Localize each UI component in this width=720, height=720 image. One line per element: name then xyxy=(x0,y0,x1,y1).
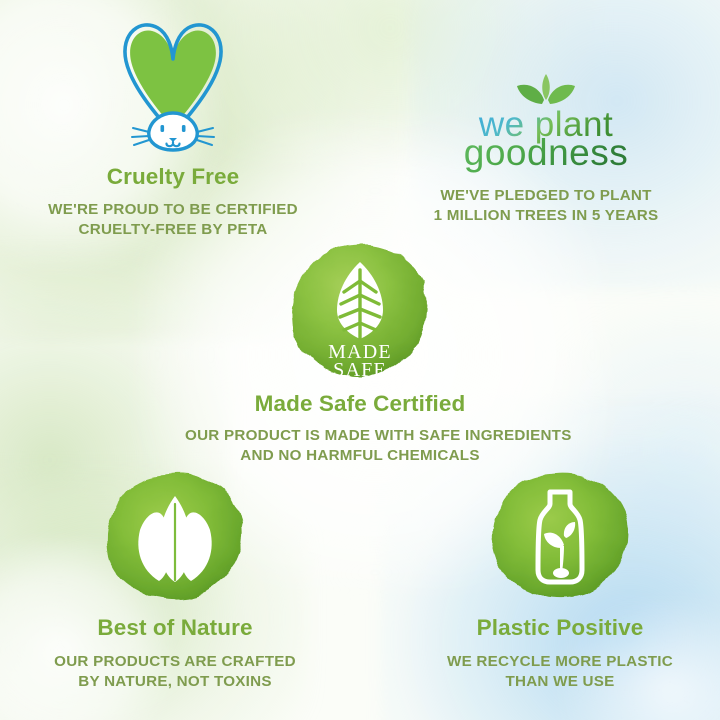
badge-cruelty-free: Cruelty Free WE'RE PROUD TO BE CERTIFIED… xyxy=(0,12,346,239)
badge-title-cruelty-free: Cruelty Free xyxy=(0,165,346,190)
badge-we-plant-goodness: we plant goodness WE'VE PLEDGED TO PLANT… xyxy=(372,58,720,226)
badge-made-safe-certified: MADE SAFE Made Safe Certified OUR PRODUC… xyxy=(185,240,535,465)
we-plant-goodness-logo: we plant goodness xyxy=(372,58,720,170)
sprout-icon xyxy=(517,74,575,104)
badge-plastic-positive: Plastic Positive WE RECYCLE MORE PLASTIC… xyxy=(400,470,720,691)
description-line: OUR PRODUCTS ARE CRAFTED xyxy=(5,652,345,672)
badge-description-best-of-nature: OUR PRODUCTS ARE CRAFTED BY NATURE, NOT … xyxy=(5,652,345,692)
description-line: CRUELTY-FREE BY PETA xyxy=(0,220,346,240)
badge-best-of-nature: Best of Nature OUR PRODUCTS ARE CRAFTED … xyxy=(5,470,345,691)
description-line: WE RECYCLE MORE PLASTIC xyxy=(400,652,720,672)
badge-title-plastic-positive: Plastic Positive xyxy=(400,616,720,641)
badge-title-made-safe: Made Safe Certified xyxy=(185,392,535,417)
description-line: 1 MILLION TREES IN 5 YEARS xyxy=(372,206,720,226)
sustainability-badges-poster: Cruelty Free WE'RE PROUD TO BE CERTIFIED… xyxy=(0,0,720,720)
badge-title-best-of-nature: Best of Nature xyxy=(5,616,345,641)
made-safe-leaf-badge-icon: MADE SAFE xyxy=(185,240,535,382)
description-line: WE'RE PROUD TO BE CERTIFIED xyxy=(0,200,346,220)
svg-text:goodness: goodness xyxy=(464,132,628,173)
made-safe-line-2: SAFE xyxy=(333,359,387,381)
badge-description-we-plant-goodness: WE'VE PLEDGED TO PLANT 1 MILLION TREES I… xyxy=(372,186,720,226)
badge-description-cruelty-free: WE'RE PROUD TO BE CERTIFIED CRUELTY-FREE… xyxy=(0,200,346,240)
peta-bunny-heart-icon xyxy=(0,12,346,157)
description-line: AND NO HARMFUL CHEMICALS xyxy=(185,446,535,466)
description-line: BY NATURE, NOT TOXINS xyxy=(5,672,345,692)
description-line: WE'VE PLEDGED TO PLANT xyxy=(372,186,720,206)
badge-description-plastic-positive: WE RECYCLE MORE PLASTIC THAN WE USE xyxy=(400,652,720,692)
bottle-sprout-icon xyxy=(400,470,720,602)
description-line: THAN WE USE xyxy=(400,672,720,692)
badge-description-made-safe: OUR PRODUCT IS MADE WITH SAFE INGREDIENT… xyxy=(185,426,535,466)
three-leaves-icon xyxy=(5,470,345,602)
description-line: OUR PRODUCT IS MADE WITH SAFE INGREDIENT… xyxy=(185,426,535,446)
